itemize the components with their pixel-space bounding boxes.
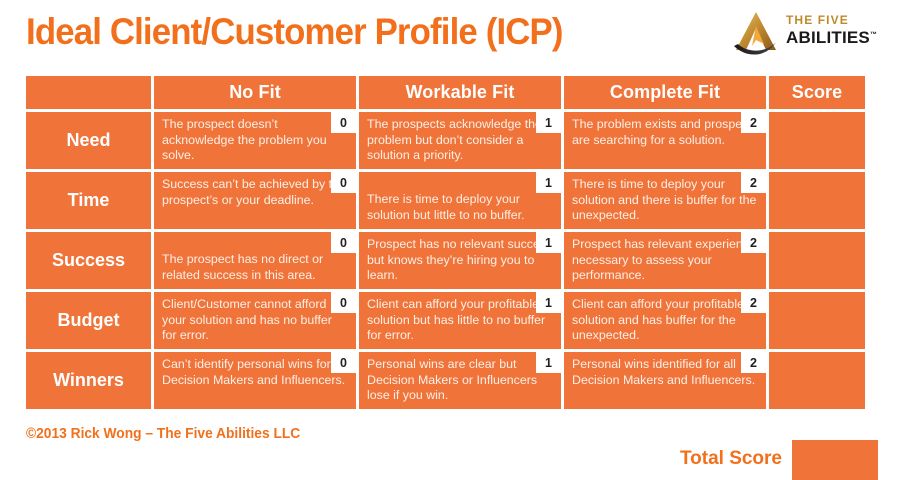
score-input-budget[interactable]	[769, 292, 865, 349]
cell-text: The problem exists and prospects are sea…	[572, 117, 759, 148]
cell-winners-workable-fit: Personal wins are clear but Decision Mak…	[359, 352, 561, 409]
score-input-need[interactable]	[769, 112, 865, 169]
score-value-badge: 2	[741, 172, 766, 193]
cell-time-workable-fit: There is time to deploy your solution bu…	[359, 172, 561, 229]
cell-time-no-fit: Success can’t be achieved by the prospec…	[154, 172, 356, 229]
cell-text: Success can’t be achieved by the prospec…	[162, 177, 349, 208]
score-value-badge: 0	[331, 172, 356, 193]
table-row: NeedThe prospect doesn’t acknowledge the…	[26, 112, 878, 169]
header-cell-workable-fit: Workable Fit	[359, 76, 561, 109]
five-abilities-triangle-swoosh-icon	[732, 10, 784, 58]
score-input-time[interactable]	[769, 172, 865, 229]
header-label-score: Score	[792, 82, 843, 103]
cell-success-complete-fit: Prospect has relevant experience necessa…	[564, 232, 766, 289]
score-value-badge: 0	[331, 232, 356, 253]
header-label-complete-fit: Complete Fit	[610, 82, 720, 103]
header-cell-no-fit: No Fit	[154, 76, 356, 109]
page-footer: ©2013 Rick Wong – The Five Abilities LLC…	[0, 420, 904, 480]
score-input-winners[interactable]	[769, 352, 865, 409]
cell-text: There is time to deploy your solution bu…	[367, 192, 554, 223]
score-value-badge: 1	[536, 352, 561, 373]
score-value-badge: 2	[741, 352, 766, 373]
row-label-need: Need	[26, 112, 151, 169]
cell-success-no-fit: The prospect has no direct or related su…	[154, 232, 356, 289]
row-label-winners: Winners	[26, 352, 151, 409]
table-row: TimeSuccess can’t be achieved by the pro…	[26, 172, 878, 229]
header-cell-score: Score	[769, 76, 865, 109]
score-input-success[interactable]	[769, 232, 865, 289]
row-label-time: Time	[26, 172, 151, 229]
page-title: Ideal Client/Customer Profile (ICP)	[26, 8, 563, 56]
header-label-no-fit: No Fit	[229, 82, 281, 103]
cell-budget-no-fit: Client/Customer cannot afford your solut…	[154, 292, 356, 349]
cell-text: Can’t identify personal wins for Decisio…	[162, 357, 349, 388]
cell-need-complete-fit: The problem exists and prospects are sea…	[564, 112, 766, 169]
table-row: SuccessThe prospect has no direct or rel…	[26, 232, 878, 289]
cell-text: Client can afford your profitable soluti…	[367, 297, 554, 344]
total-score-input[interactable]	[792, 440, 878, 480]
cell-text: Personal wins identified for all Decisio…	[572, 357, 759, 388]
copyright-notice: ©2013 Rick Wong – The Five Abilities LLC	[26, 426, 300, 442]
header-cell-complete-fit: Complete Fit	[564, 76, 766, 109]
logo-wordmark: THE FIVE ABILITIES™	[786, 13, 886, 48]
trademark-icon: ™	[870, 32, 877, 39]
score-value-badge: 2	[741, 112, 766, 133]
score-value-badge: 1	[536, 232, 561, 253]
cell-budget-complete-fit: Client can afford your profitable soluti…	[564, 292, 766, 349]
cell-text: Prospect has relevant experience necessa…	[572, 237, 759, 284]
logo-line-the-five: THE FIVE	[786, 13, 886, 28]
cell-text: The prospect doesn’t acknowledge the pro…	[162, 117, 349, 164]
score-value-badge: 2	[741, 232, 766, 253]
score-value-badge: 2	[741, 292, 766, 313]
cell-winners-complete-fit: Personal wins identified for all Decisio…	[564, 352, 766, 409]
cell-time-complete-fit: There is time to deploy your solution an…	[564, 172, 766, 229]
page-header: Ideal Client/Customer Profile (ICP) THE …	[0, 0, 904, 72]
cell-text: Client can afford your profitable soluti…	[572, 297, 759, 344]
row-label-budget: Budget	[26, 292, 151, 349]
cell-winners-no-fit: Can’t identify personal wins for Decisio…	[154, 352, 356, 409]
cell-budget-workable-fit: Client can afford your profitable soluti…	[359, 292, 561, 349]
cell-text: There is time to deploy your solution an…	[572, 177, 759, 224]
cell-success-workable-fit: Prospect has no relevant success but kno…	[359, 232, 561, 289]
cell-text: The prospect has no direct or related su…	[162, 252, 349, 283]
header-label-workable-fit: Workable Fit	[406, 82, 515, 103]
logo-line-abilities: ABILITIES	[786, 28, 870, 47]
score-value-badge: 1	[536, 292, 561, 313]
cell-need-workable-fit: The prospects acknowledge the problem bu…	[359, 112, 561, 169]
row-label-success: Success	[26, 232, 151, 289]
header-cell-criteria	[26, 76, 151, 109]
icp-scorecard-table: No Fit Workable Fit Complete Fit Score N…	[26, 76, 878, 412]
table-row: BudgetClient/Customer cannot afford your…	[26, 292, 878, 349]
score-value-badge: 1	[536, 112, 561, 133]
total-score-label: Total Score	[680, 448, 782, 470]
score-value-badge: 0	[331, 112, 356, 133]
cell-text: Prospect has no relevant success but kno…	[367, 237, 554, 284]
cell-text: The prospects acknowledge the problem bu…	[367, 117, 554, 164]
table-header-row: No Fit Workable Fit Complete Fit Score	[26, 76, 878, 109]
cell-text: Client/Customer cannot afford your solut…	[162, 297, 349, 344]
score-value-badge: 0	[331, 292, 356, 313]
score-value-badge: 0	[331, 352, 356, 373]
cell-need-no-fit: The prospect doesn’t acknowledge the pro…	[154, 112, 356, 169]
table-row: WinnersCan’t identify personal wins for …	[26, 352, 878, 409]
company-logo: THE FIVE ABILITIES™	[728, 8, 886, 60]
score-value-badge: 1	[536, 172, 561, 193]
cell-text: Personal wins are clear but Decision Mak…	[367, 357, 554, 404]
